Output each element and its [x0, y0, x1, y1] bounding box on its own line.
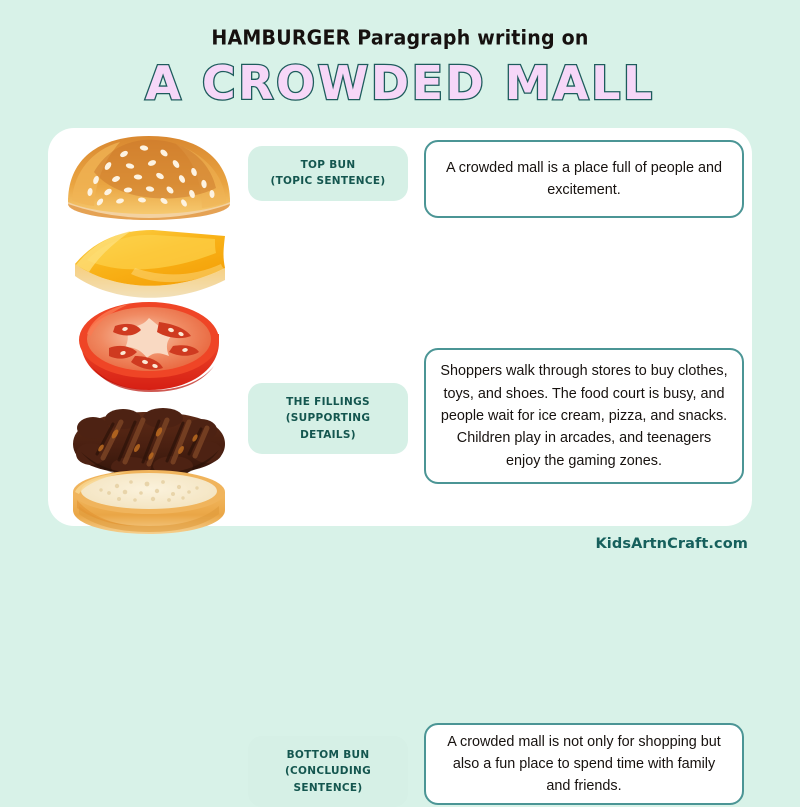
row-fillings: THE FILLINGS (SUPPORTING DETAILS) Shoppe…	[48, 228, 752, 418]
page-title: A CROWDED MALL	[0, 47, 800, 106]
label-pill-bottom-bun: BOTTOM BUN (CONCLUDING SENTENCE)	[248, 736, 408, 807]
brand-watermark: KidsArtnCraft.com	[595, 536, 748, 552]
illustration-column-fillings	[54, 228, 244, 418]
paragraph-text: A crowded mall is not only for shopping …	[440, 731, 728, 798]
row-bottom-bun: BOTTOM BUN (CONCLUDING SENTENCE) A crowd…	[48, 418, 752, 526]
page-subtitle: HAMBURGER Paragraph writing on	[0, 0, 800, 49]
illustration-column-bottom-bun	[54, 418, 244, 526]
paragraph-box-concluding-sentence: A crowded mall is not only for shopping …	[424, 723, 744, 805]
pill-line: TOP BUN	[254, 157, 402, 173]
label-pill-top-bun: TOP BUN (TOPIC SENTENCE)	[248, 146, 408, 201]
pill-line: BOTTOM BUN	[254, 747, 402, 763]
paragraph-text: A crowded mall is a place full of people…	[440, 157, 728, 202]
pill-line: THE FILLINGS	[254, 394, 402, 410]
illustration-column-top-bun	[54, 128, 244, 228]
bottom-bun-icon	[69, 466, 229, 538]
cheese-slice-icon	[65, 226, 233, 304]
pill-line: (TOPIC SENTENCE)	[254, 173, 402, 189]
paragraph-box-topic-sentence: A crowded mall is a place full of people…	[424, 140, 744, 218]
page-header: HAMBURGER Paragraph writing on A CROWDED…	[0, 0, 800, 106]
content-card: TOP BUN (TOPIC SENTENCE) A crowded mall …	[48, 128, 752, 526]
tomato-slice-icon	[73, 298, 225, 394]
row-top-bun: TOP BUN (TOPIC SENTENCE) A crowded mall …	[48, 128, 752, 228]
pill-line: (CONCLUDING	[254, 763, 402, 779]
sesame-top-bun-icon	[64, 132, 234, 224]
pill-line: SENTENCE)	[254, 780, 402, 796]
